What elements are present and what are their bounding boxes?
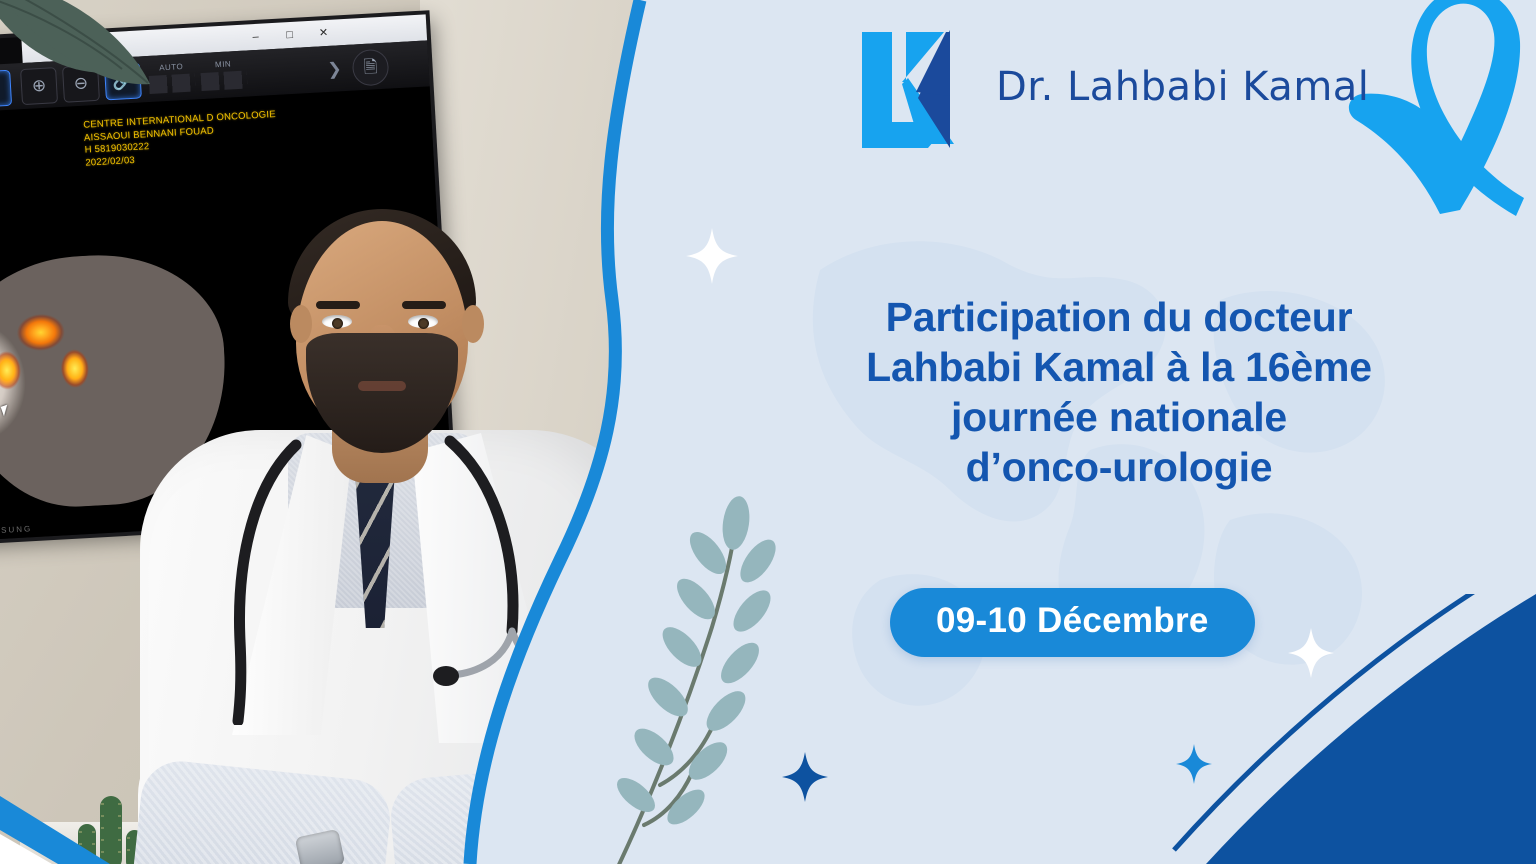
ear-right xyxy=(462,305,484,343)
sparkle-navy-bottom xyxy=(782,752,828,802)
maximize-icon[interactable]: □ xyxy=(283,29,296,42)
promo-banner: – □ ✕ ✋ ◓ ⊕ ⊖ 🔗 AUTO MIN ❯ 🗎 CENTRE INTE xyxy=(0,0,1536,864)
leaf-pair-icon xyxy=(0,0,212,128)
next-arrow-icon[interactable]: ❯ xyxy=(316,51,354,89)
olive-branch-icon xyxy=(600,495,830,864)
eye-left xyxy=(322,315,352,328)
headline-line-3: journée nationale xyxy=(762,392,1476,442)
brand-name: Dr. Lahbabi Kamal xyxy=(996,64,1369,110)
minimize-icon[interactable]: – xyxy=(249,31,262,44)
page-title: Participation du docteur Lahbabi Kamal à… xyxy=(762,292,1476,492)
headline-line-2: Lahbabi Kamal à la 16ème xyxy=(762,342,1476,392)
awareness-ribbon-icon xyxy=(1348,0,1528,217)
mouth xyxy=(358,381,406,391)
headline-line-4: d’onco-urologie xyxy=(762,442,1476,492)
brand-logo: Dr. Lahbabi Kamal xyxy=(858,26,1369,148)
lk-monogram-icon xyxy=(858,26,970,148)
sparkle-white-top xyxy=(686,228,738,284)
eye-right xyxy=(408,315,438,328)
report-icon[interactable]: 🗎 xyxy=(352,49,390,87)
ear-left xyxy=(290,305,312,343)
close-icon[interactable]: ✕ xyxy=(317,27,330,40)
sparkle-white-mid xyxy=(1288,628,1334,678)
eyebrow-right xyxy=(402,301,446,309)
stethoscope-icon xyxy=(200,435,560,725)
date-badge: 09-10 Décembre xyxy=(890,588,1255,657)
headline-line-1: Participation du docteur xyxy=(762,292,1476,342)
eyebrow-left xyxy=(316,301,360,309)
sparkle-blue-bottom xyxy=(1176,744,1212,784)
accent-bottom-left xyxy=(0,734,180,864)
